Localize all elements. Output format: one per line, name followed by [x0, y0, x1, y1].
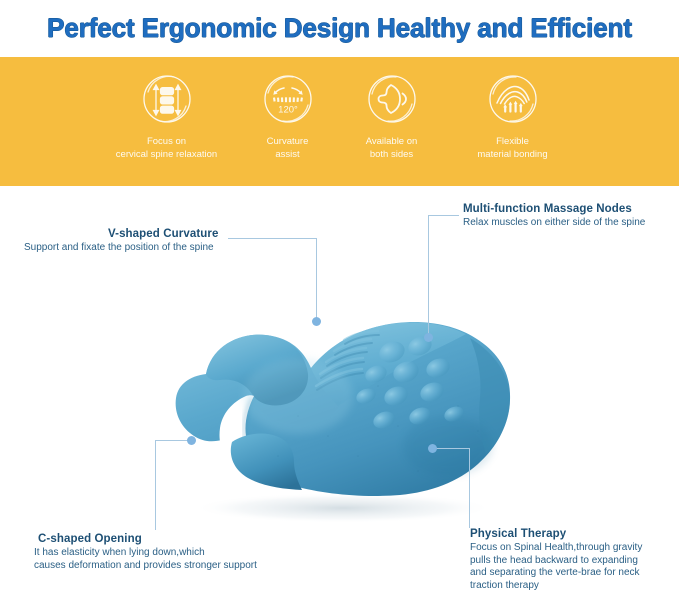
callout-title-physical-therapy: Physical Therapy — [470, 528, 642, 540]
feature-list: Focus on cervical spine relaxation — [0, 57, 679, 186]
feature-item-cervical-relaxation: Focus on cervical spine relaxation — [100, 68, 234, 161]
callout-body-physical-therapy: Focus on Spinal Health,through gravity p… — [470, 542, 642, 592]
callout-body-v-curvature: Support and fixate the position of the s… — [24, 242, 218, 255]
connector-dot-c-opening — [187, 436, 196, 445]
connector-line-physical-therapy-horizontal — [436, 448, 470, 449]
callout-physical-therapy: Physical Therapy Focus on Spinal Health,… — [470, 528, 642, 592]
connector-line-c-opening-horizontal — [155, 440, 191, 441]
connector-line-v-curvature-vertical — [316, 238, 317, 318]
page-title-bar: Perfect Ergonomic Design Healthy and Eff… — [0, 0, 679, 57]
spine-stretch-icon — [136, 68, 198, 130]
callout-body-massage-nodes: Relax muscles on either side of the spin… — [463, 217, 645, 230]
feature-item-curvature-assist: 120° Curvature assist — [238, 68, 338, 161]
feature-label-cervical-relaxation: Focus on cervical spine relaxation — [116, 136, 217, 161]
curvature-angle-icon: 120° — [257, 68, 319, 130]
callout-c-opening: C-shaped Opening It has elasticity when … — [38, 533, 257, 572]
curvature-angle-value: 120° — [278, 105, 298, 116]
flexible-material-icon — [482, 68, 544, 130]
connector-line-massage-nodes-vertical — [428, 215, 429, 337]
feature-item-both-sides: Available on both sides — [342, 68, 442, 161]
callout-title-massage-nodes: Multi-function Massage Nodes — [463, 203, 645, 215]
connector-dot-v-curvature — [312, 317, 321, 326]
connector-line-v-curvature-horizontal — [228, 238, 317, 239]
product-infographic: Perfect Ergonomic Design Healthy and Eff… — [0, 0, 679, 600]
connector-dot-physical-therapy — [428, 444, 437, 453]
callout-massage-nodes: Multi-function Massage Nodes Relax muscl… — [463, 203, 645, 230]
connector-dot-massage-nodes — [424, 333, 433, 342]
feature-label-curvature-assist: Curvature assist — [267, 136, 309, 161]
callout-title-v-curvature: V-shaped Curvature — [108, 228, 218, 240]
both-sides-icon — [361, 68, 423, 130]
feature-banner: Focus on cervical spine relaxation — [0, 57, 679, 186]
callout-v-curvature: V-shaped Curvature Support and fixate th… — [108, 228, 218, 255]
connector-line-c-opening-vertical — [155, 440, 156, 530]
page-title: Perfect Ergonomic Design Healthy and Eff… — [47, 13, 632, 44]
feature-label-both-sides: Available on both sides — [366, 136, 418, 161]
feature-label-flexible-material: Flexible material bonding — [477, 136, 547, 161]
connector-line-physical-therapy-vertical — [469, 448, 470, 528]
connector-line-massage-nodes-horizontal — [428, 215, 459, 216]
callout-body-c-opening: It has elasticity when lying down,which … — [34, 547, 257, 572]
feature-item-flexible-material: Flexible material bonding — [446, 68, 580, 161]
cervical-traction-pillow-image — [148, 296, 538, 526]
callout-title-c-opening: C-shaped Opening — [38, 533, 257, 545]
